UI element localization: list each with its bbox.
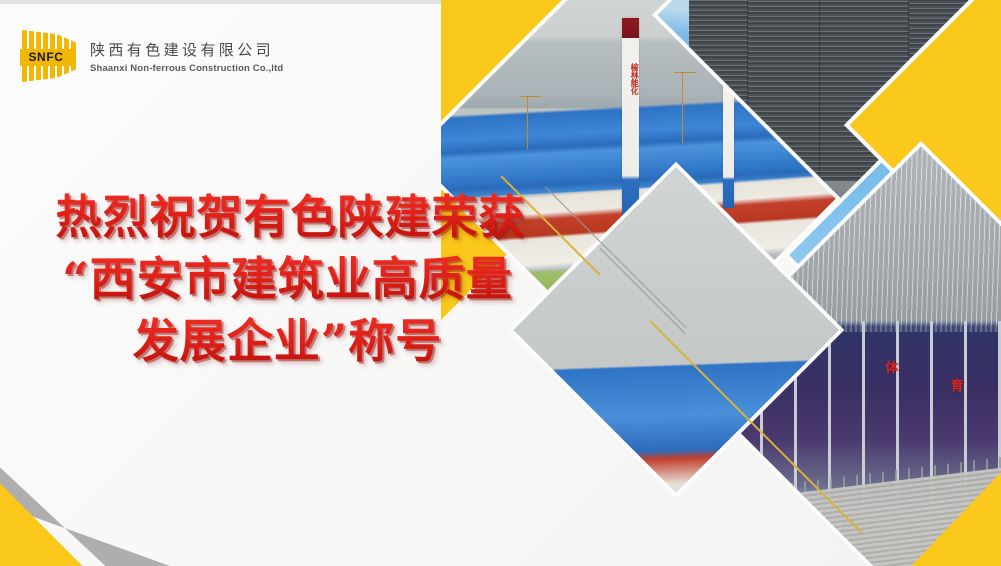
chimney-main: 榆林能化 <box>622 18 639 220</box>
company-name-cn: 陕西有色建设有限公司 <box>90 39 283 60</box>
crane-icon <box>527 96 528 149</box>
headline-line-2: “西安市建筑业高质量 <box>0 248 575 310</box>
company-name-group: 陕西有色建设有限公司 Shaanxi Non-ferrous Construct… <box>90 39 283 74</box>
facade-char: 育 <box>951 380 964 393</box>
banner-canvas: 榆林能化 陕建 <box>0 0 1001 566</box>
logo-mark-text: SNFC <box>28 50 63 64</box>
snfc-fan-logo-icon: SNFC <box>22 30 78 82</box>
headline-line-3: 发展企业”称号 <box>0 310 575 372</box>
company-name-en: Shaanxi Non-ferrous Construction Co.,ltd <box>90 63 283 74</box>
chimney-label: 榆林能化 <box>622 63 639 95</box>
headline-line-1: 热烈祝贺有色陕建荣获 <box>0 186 575 248</box>
logo-band: SNFC <box>20 49 72 66</box>
facade-char: 体 <box>885 362 898 375</box>
headline-block: 热烈祝贺有色陕建荣获 “西安市建筑业高质量 发展企业”称号 <box>0 186 575 372</box>
crane-icon <box>682 72 683 143</box>
company-logo-block: SNFC 陕西有色建设有限公司 Shaanxi Non-ferrous Cons… <box>22 30 283 82</box>
